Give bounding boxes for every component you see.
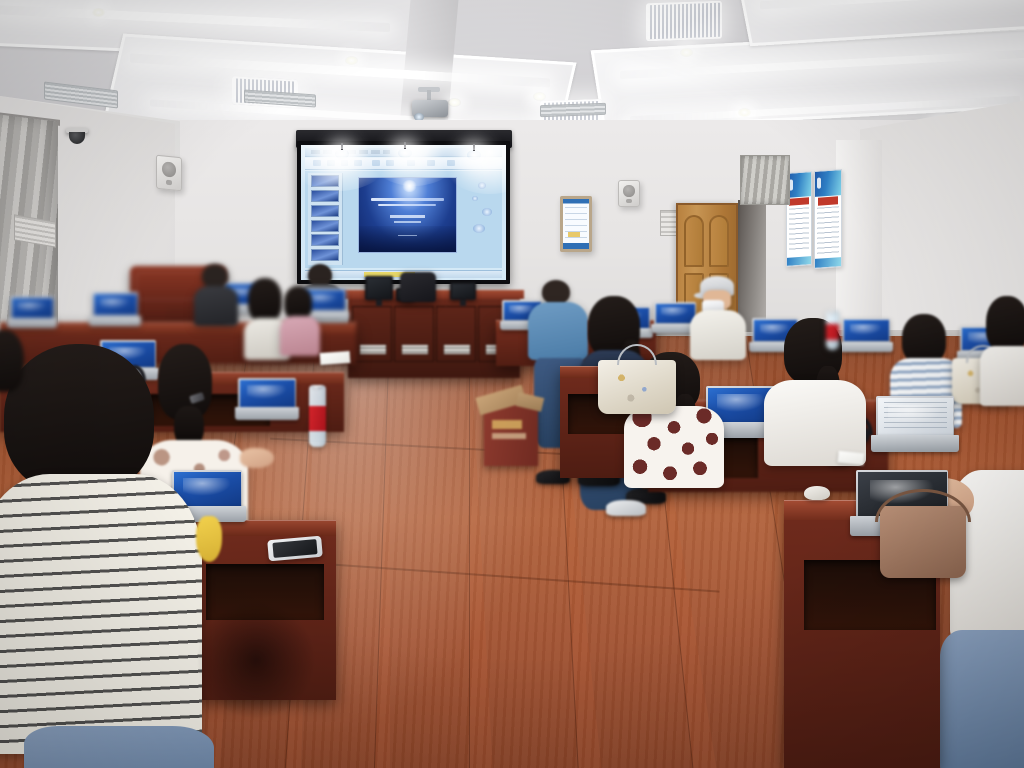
shadow: [196, 600, 316, 720]
slide-thumbnail[interactable]: [311, 205, 339, 217]
recessed-downlight: [680, 48, 693, 57]
laptop[interactable]: [876, 396, 954, 452]
recessed-downlight: [92, 8, 105, 17]
pane-item-icon: [472, 196, 479, 201]
presentation-app-title-text: [311, 150, 390, 154]
console-cabinet[interactable]: [436, 306, 476, 362]
laptop-base[interactable]: [839, 342, 893, 352]
main-slide-canvas[interactable]: [358, 177, 456, 253]
door-panel: [684, 215, 704, 267]
torso: [980, 346, 1024, 406]
computer-mouse[interactable]: [804, 486, 830, 500]
arm: [240, 448, 274, 468]
laptop-screen[interactable]: [844, 320, 889, 341]
slide-thumbnail[interactable]: [311, 175, 339, 187]
torso: [624, 406, 724, 488]
notice-highlight: [568, 232, 580, 237]
poster-badge: [817, 177, 821, 189]
ceiling-air-vent: [540, 103, 606, 117]
console-vent-grille: [359, 344, 387, 355]
laptop-base[interactable]: [7, 318, 56, 328]
laptop-lid: [92, 292, 138, 316]
torso: [528, 302, 588, 360]
ceiling-spotlight: [335, 149, 349, 159]
console-vent-grille: [443, 344, 471, 355]
laptop-lid: [876, 396, 954, 436]
crystal-square-lamp: [646, 1, 722, 42]
laptop[interactable]: [92, 292, 138, 326]
head: [542, 280, 570, 304]
laptop[interactable]: [842, 318, 890, 352]
instructor-chair[interactable]: [400, 272, 436, 302]
slide-byline: [398, 235, 417, 237]
slide-light-burst: [402, 180, 417, 192]
console-cabinet[interactable]: [394, 306, 434, 362]
ribbon-icon[interactable]: [327, 160, 335, 166]
bottle-label: [826, 324, 839, 340]
monitor-panel: [367, 278, 391, 298]
torso: [194, 286, 238, 326]
ribbon-icon[interactable]: [407, 160, 415, 166]
projector-body: [412, 100, 448, 117]
info-poster-right: [814, 169, 842, 269]
notice-board-content: [563, 199, 589, 249]
poster-footer: [787, 256, 811, 266]
slide-thumbnail[interactable]: [311, 220, 339, 232]
ribbon-icon[interactable]: [354, 160, 362, 166]
notice-board: [560, 196, 592, 252]
wall-speaker-left: [156, 155, 182, 192]
legs: [940, 630, 1024, 768]
slide-title-line: [378, 204, 436, 207]
torso: [280, 316, 320, 356]
console-monitor: [365, 276, 393, 300]
poster-title-bar: [818, 196, 839, 205]
hair: [284, 286, 312, 320]
console-vent-grille: [401, 344, 429, 355]
laptop-screen[interactable]: [94, 294, 137, 315]
projection-screen-surface: [301, 145, 506, 280]
dome-security-camera-icon: [66, 128, 88, 144]
wall-speaker-right: [618, 180, 640, 207]
laptop-base[interactable]: [235, 407, 300, 420]
slide-horizon-gradient: [359, 226, 455, 253]
monitor-panel: [452, 284, 474, 298]
leather-handbag[interactable]: [880, 506, 966, 578]
bottle-cap: [313, 385, 323, 387]
slide-title-line: [371, 198, 444, 201]
ribbon-icon[interactable]: [313, 160, 321, 166]
recessed-downlight: [345, 56, 358, 65]
ceiling-spotlight: [467, 150, 481, 160]
laptop-screen[interactable]: [240, 380, 295, 407]
projection-screen: [297, 141, 510, 284]
pane-item-icon: [482, 208, 492, 216]
ribbon-icon[interactable]: [447, 160, 455, 166]
recessed-downlight: [533, 92, 546, 101]
bottle-cap: [829, 310, 836, 312]
head: [202, 264, 228, 288]
slide-thumbnail-pane[interactable]: [308, 173, 343, 265]
slide-subtitle-line: [390, 215, 425, 218]
torso: [690, 310, 746, 360]
door-panel: [709, 215, 729, 267]
ceiling-spotlight: [398, 148, 412, 158]
presentation-app-body: [305, 171, 502, 268]
hair: [4, 344, 154, 494]
laptop-screen[interactable]: [656, 304, 695, 323]
laptop-screen[interactable]: [12, 298, 53, 318]
paper-sheet[interactable]: [320, 351, 351, 365]
poster-footer: [815, 257, 841, 267]
ribbon-icon[interactable]: [372, 160, 380, 166]
ceiling-projector-icon: [408, 92, 452, 118]
louver-vent-icon: [740, 155, 790, 205]
monitor-stand: [460, 300, 465, 306]
yellow-item: [196, 516, 222, 562]
pane-item-icon: [478, 182, 487, 189]
slide-thumbnail[interactable]: [311, 249, 339, 261]
box-label: [492, 433, 527, 439]
laptop-lid: [10, 296, 54, 319]
recessed-downlight: [738, 108, 751, 117]
slide-thumbnail[interactable]: [311, 190, 339, 202]
shoe: [606, 500, 646, 516]
laptop-lid: [238, 378, 296, 408]
monitor-stand: [376, 300, 382, 306]
slide-right-pane[interactable]: [466, 176, 499, 254]
hair: [248, 278, 282, 322]
laptop-lid: [654, 302, 696, 324]
ribbon-icon[interactable]: [427, 160, 435, 166]
cardboard-box[interactable]: [484, 404, 538, 466]
legs: [24, 726, 214, 768]
hair: [986, 296, 1024, 352]
poster-body-lines: [789, 207, 809, 253]
laptop-base[interactable]: [89, 316, 141, 326]
laptop-screen[interactable]: [878, 398, 953, 435]
box-label: [492, 420, 522, 429]
laptop-base[interactable]: [871, 435, 958, 452]
console-cabinet[interactable]: [352, 306, 392, 362]
hair: [902, 314, 946, 364]
poster-title-bar: [789, 197, 808, 206]
water-bottle[interactable]: [309, 385, 326, 447]
ribbon-icon[interactable]: [341, 160, 349, 166]
camera-dome: [69, 132, 85, 144]
ribbon-icon[interactable]: [386, 160, 394, 166]
tote-bag[interactable]: [598, 360, 676, 414]
laptop[interactable]: [10, 296, 54, 328]
console-monitor: [450, 282, 476, 300]
teacher-console-desk: [348, 296, 520, 378]
door-opening: [738, 200, 766, 332]
water-bottle[interactable]: [826, 310, 839, 350]
slide-thumbnail[interactable]: [311, 234, 339, 246]
bottle-label: [309, 406, 326, 431]
laptop[interactable]: [238, 378, 296, 420]
head: [308, 264, 332, 286]
poster-body-lines: [817, 207, 839, 255]
paper-sheet[interactable]: [837, 451, 864, 466]
pane-item-icon: [473, 224, 485, 233]
slide-subtitle-line: [394, 221, 421, 223]
classroom-photo-scene: [0, 0, 1024, 768]
torso: [0, 474, 202, 754]
laptop-lid: [842, 318, 890, 342]
